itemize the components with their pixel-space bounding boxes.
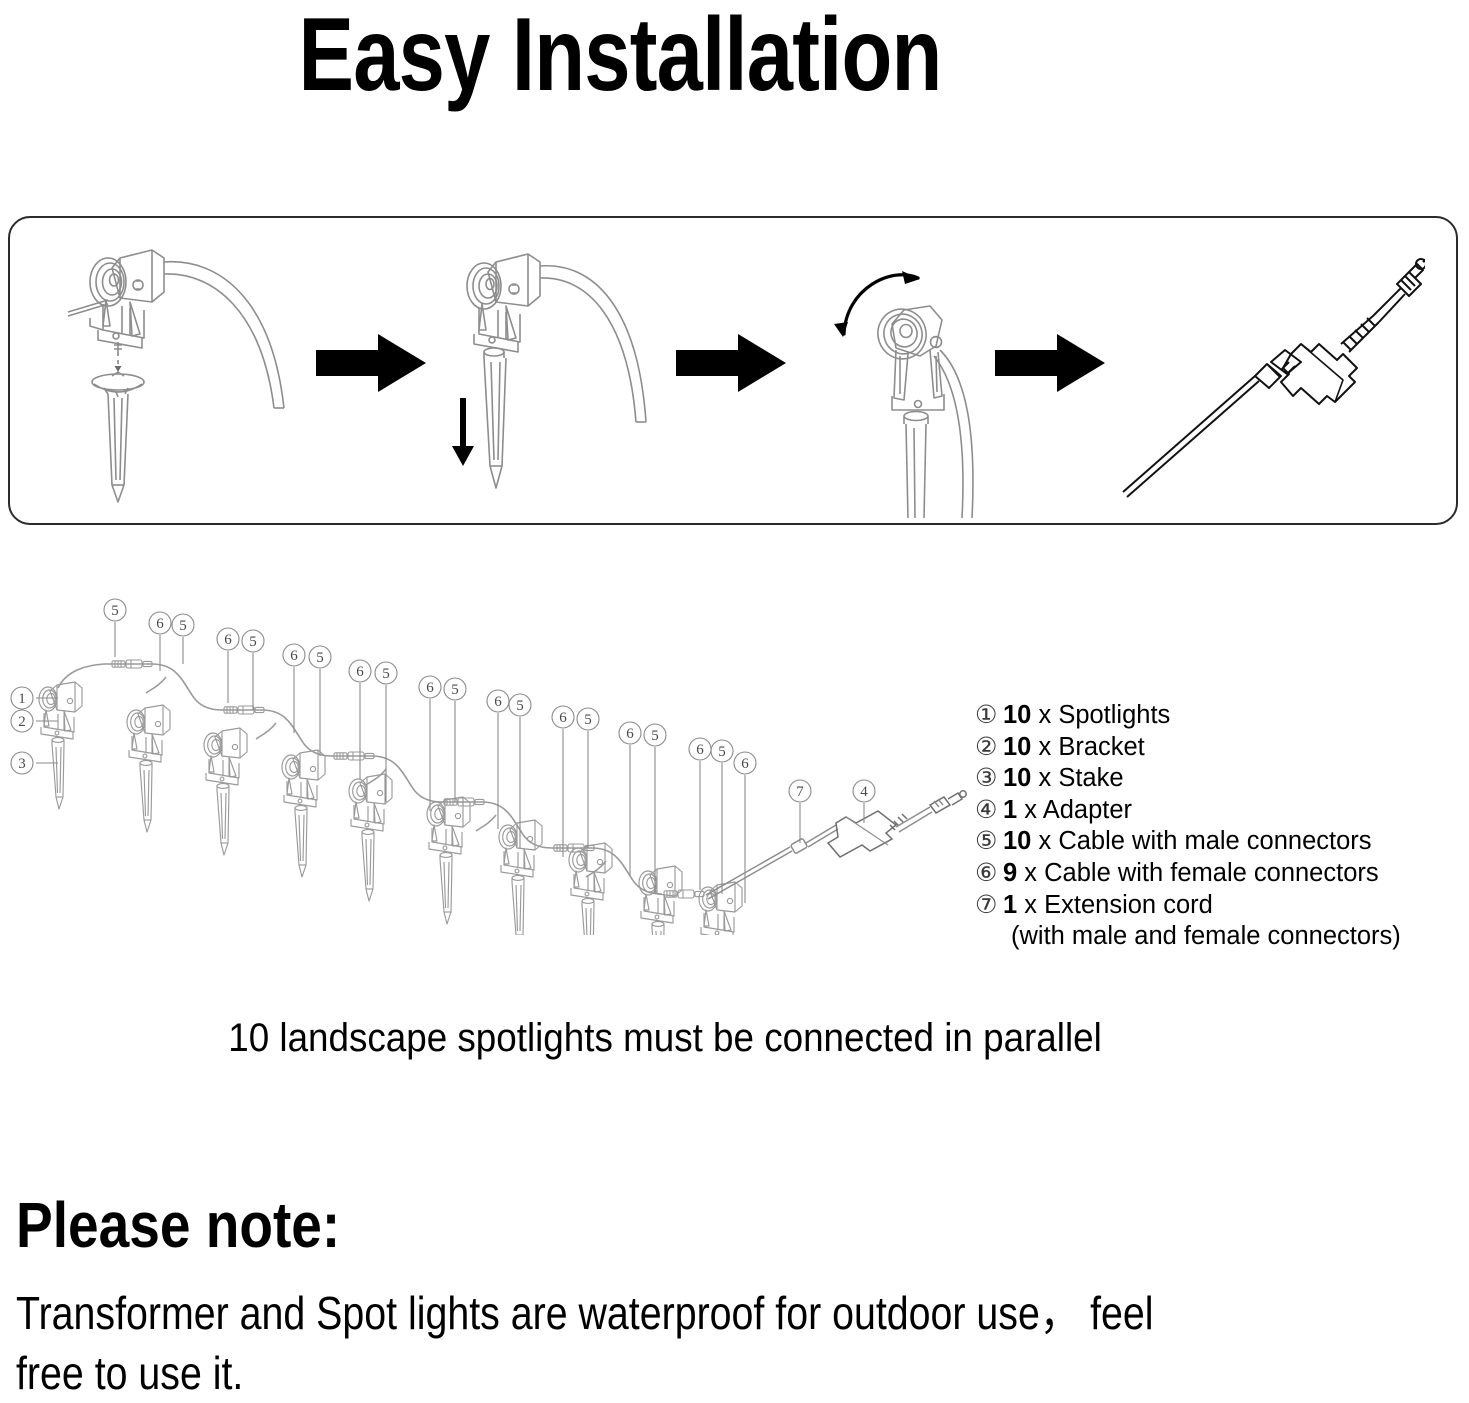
legend-x: x xyxy=(1038,827,1051,855)
installation-steps-panel xyxy=(8,216,1458,525)
legend-marker: ⑥ xyxy=(975,858,1003,890)
legend-label: Stake xyxy=(1058,764,1123,792)
note-line-1: Transformer and Spot lights are waterpro… xyxy=(16,1283,1469,1343)
wiring-caption: 10 landscape spotlights must be connecte… xyxy=(53,1016,1277,1061)
svg-text:6: 6 xyxy=(494,694,502,710)
svg-text:6: 6 xyxy=(426,680,434,696)
svg-text:5: 5 xyxy=(451,682,459,698)
svg-text:5: 5 xyxy=(382,666,390,682)
svg-text:6: 6 xyxy=(224,632,232,648)
legend-item: ⑦1 x Extension cord xyxy=(975,890,1445,922)
legend-item: ④1 x Adapter xyxy=(975,795,1445,827)
svg-text:5: 5 xyxy=(179,618,187,634)
svg-text:6: 6 xyxy=(741,756,749,772)
legend-qty: 10 xyxy=(1003,733,1031,761)
spotlight-unit xyxy=(699,882,742,935)
spotlight-with-bracket-and-separate-stake-icon xyxy=(60,230,350,510)
legend-marker: ③ xyxy=(975,763,1003,795)
svg-text:6: 6 xyxy=(626,726,634,742)
callout-head: 1 xyxy=(18,691,26,707)
legend-item: ①10 x Spotlights xyxy=(975,700,1445,732)
note-line-2: free to use it. xyxy=(16,1343,1469,1403)
legend-label: Bracket xyxy=(1058,733,1144,761)
cable-connector xyxy=(664,890,704,898)
spotlight-unit xyxy=(639,866,682,935)
legend-marker: ② xyxy=(975,732,1003,764)
legend-marker: ① xyxy=(975,700,1003,732)
legend-marker: ⑤ xyxy=(975,826,1003,858)
callout-bracket: 2 xyxy=(18,714,26,730)
svg-text:5: 5 xyxy=(584,712,592,728)
step-1-attach-bracket-to-stake xyxy=(60,230,350,515)
step-arrow-3 xyxy=(995,332,1105,399)
legend-qty: 10 xyxy=(1003,764,1031,792)
svg-text:6: 6 xyxy=(156,616,164,632)
block-arrow-right-icon xyxy=(676,332,786,394)
callout-extension: 7 xyxy=(796,784,804,800)
legend-marker: ④ xyxy=(975,795,1003,827)
callout-leaders xyxy=(36,622,864,903)
svg-text:5: 5 xyxy=(516,698,524,714)
legend-x: x xyxy=(1038,733,1051,761)
cable-branches xyxy=(146,677,606,877)
legend-item: ⑥9 x Cable with female connectors xyxy=(975,858,1445,890)
svg-text:6: 6 xyxy=(290,648,298,664)
legend-label: Adapter xyxy=(1043,796,1132,824)
legend-item: ③10 x Stake xyxy=(975,763,1445,795)
spotlight-unit xyxy=(569,843,612,935)
product-instruction-page: Easy Installation xyxy=(0,0,1469,1384)
legend-x: x xyxy=(1024,891,1037,919)
svg-text:5: 5 xyxy=(316,650,324,666)
spotlight-unit xyxy=(427,797,470,924)
legend-label: Cable with male connectors xyxy=(1058,827,1371,855)
callout-adapter: 4 xyxy=(860,784,868,800)
legend-qty: 9 xyxy=(1003,859,1017,887)
svg-text:5: 5 xyxy=(249,634,257,650)
spotlight-unit xyxy=(127,705,170,832)
legend-subnote: (with male and female connectors) xyxy=(975,921,1445,953)
transformer-adapter-with-plug-icon xyxy=(1105,224,1425,514)
spotlight-unit xyxy=(204,728,247,855)
legend-qty: 10 xyxy=(1003,827,1031,855)
legend-qty: 10 xyxy=(1003,701,1031,729)
wiring-chain-svg: 1 2 3 56 56 56 56 56 56 56 56 56 56 7 4 xyxy=(0,585,980,935)
spotlight-unit xyxy=(39,682,82,809)
parallel-wiring-diagram: 1 2 3 56 56 56 56 56 56 56 56 56 56 7 4 xyxy=(0,585,980,935)
step-4-connect-adapter xyxy=(1105,224,1425,519)
spotlight-unit xyxy=(282,750,325,877)
block-arrow-right-icon xyxy=(316,332,426,394)
step-arrow-2 xyxy=(676,332,786,399)
legend-item: ②10 x Bracket xyxy=(975,732,1445,764)
svg-text:5: 5 xyxy=(651,728,659,744)
svg-text:6: 6 xyxy=(696,742,704,758)
legend-x: x xyxy=(1038,764,1051,792)
block-arrow-right-icon xyxy=(995,332,1105,394)
legend-qty: 1 xyxy=(1003,796,1017,824)
step-arrow-1 xyxy=(316,332,426,399)
legend-x: x xyxy=(1024,796,1037,824)
svg-text:5: 5 xyxy=(718,744,726,760)
legend-label: Cable with female connectors xyxy=(1044,859,1379,887)
legend-label: Spotlights xyxy=(1058,701,1170,729)
callout-stake: 3 xyxy=(18,756,26,772)
svg-text:6: 6 xyxy=(559,710,567,726)
legend-item: ⑤10 x Cable with male connectors xyxy=(975,826,1445,858)
note-heading: Please note: xyxy=(16,1188,340,1262)
page-title: Easy Installation xyxy=(124,0,1116,117)
down-arrow-icon xyxy=(452,398,474,466)
legend-label: Extension cord xyxy=(1044,891,1213,919)
legend-marker: ⑦ xyxy=(975,890,1003,922)
svg-text:6: 6 xyxy=(356,664,364,680)
svg-text:5: 5 xyxy=(111,603,119,619)
legend-x: x xyxy=(1024,859,1037,887)
note-body: Transformer and Spot lights are waterpro… xyxy=(16,1283,1469,1403)
legend-qty: 1 xyxy=(1003,891,1017,919)
parts-legend: ①10 x Spotlights ②10 x Bracket ③10 x Sta… xyxy=(975,700,1445,953)
legend-x: x xyxy=(1038,701,1051,729)
